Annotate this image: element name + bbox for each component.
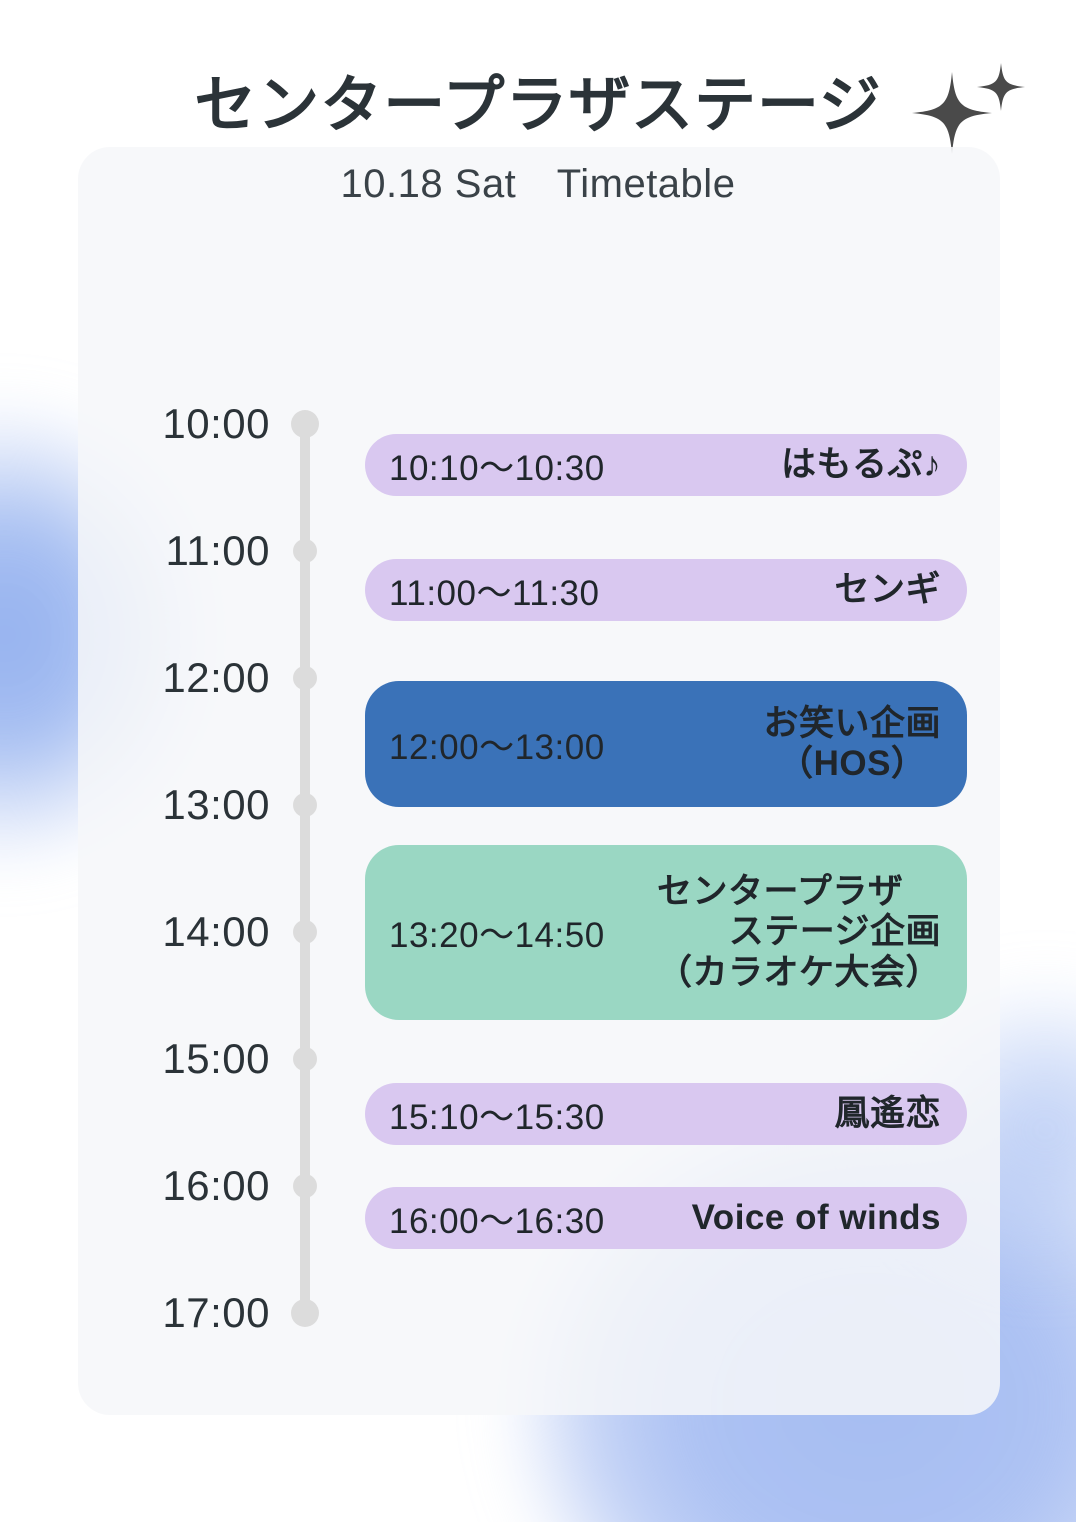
hour-label: 11:00: [100, 527, 270, 575]
hour-label: 13:00: [100, 781, 270, 829]
program-name: センギ: [834, 569, 941, 612]
program-time: 10:10〜10:30: [389, 440, 605, 491]
program-block[interactable]: 15:10〜15:30鳳遙恋: [365, 1083, 967, 1145]
program-name-line: （HOS）: [763, 744, 941, 784]
hour-label: 16:00: [100, 1162, 270, 1210]
program-block[interactable]: 16:00〜16:30Voice of winds: [365, 1187, 967, 1249]
program-name-line: お笑い企画: [763, 704, 941, 744]
timetable-body: 10:0011:0012:0013:0014:0015:0016:0017:00…: [0, 0, 1076, 1522]
program-name-line: センタープラザ: [657, 872, 941, 913]
hour-label: 12:00: [100, 654, 270, 702]
timetable-poster: センタープラザステージ 10.18 Sat Timetable 10:0011:…: [0, 0, 1076, 1522]
hour-label: 15:00: [100, 1035, 270, 1083]
hour-label: 14:00: [100, 908, 270, 956]
program-block[interactable]: 10:10〜10:30はもるぷ♪: [365, 434, 967, 496]
program-block[interactable]: 13:20〜14:50センタープラザステージ企画（カラオケ大会）: [365, 845, 967, 1020]
hour-dot: [293, 920, 317, 944]
program-name: お笑い企画（HOS）: [763, 704, 941, 784]
program-time: 12:00〜13:00: [389, 719, 605, 770]
program-block[interactable]: 11:00〜11:30センギ: [365, 559, 967, 621]
hour-dot: [291, 1299, 319, 1327]
program-time: 16:00〜16:30: [389, 1193, 605, 1244]
program-name: はもるぷ♪: [781, 444, 941, 487]
program-name: 鳳遙恋: [834, 1093, 941, 1136]
hour-dot: [293, 666, 317, 690]
hour-dot: [293, 1047, 317, 1071]
program-name-line: ステージ企画: [657, 912, 941, 953]
program-time: 13:20〜14:50: [389, 907, 605, 958]
hour-dot: [293, 539, 317, 563]
program-name: Voice of winds: [692, 1197, 941, 1240]
hour-label: 17:00: [100, 1289, 270, 1337]
program-name: センタープラザステージ企画（カラオケ大会）: [657, 872, 941, 994]
program-time: 11:00〜11:30: [389, 565, 599, 616]
hour-dot: [293, 1174, 317, 1198]
program-block[interactable]: 12:00〜13:00お笑い企画（HOS）: [365, 681, 967, 807]
program-name-line: （カラオケ大会）: [657, 953, 941, 994]
hour-label: 10:00: [100, 400, 270, 448]
program-time: 15:10〜15:30: [389, 1089, 605, 1140]
hour-dot: [293, 793, 317, 817]
hour-dot: [291, 410, 319, 438]
